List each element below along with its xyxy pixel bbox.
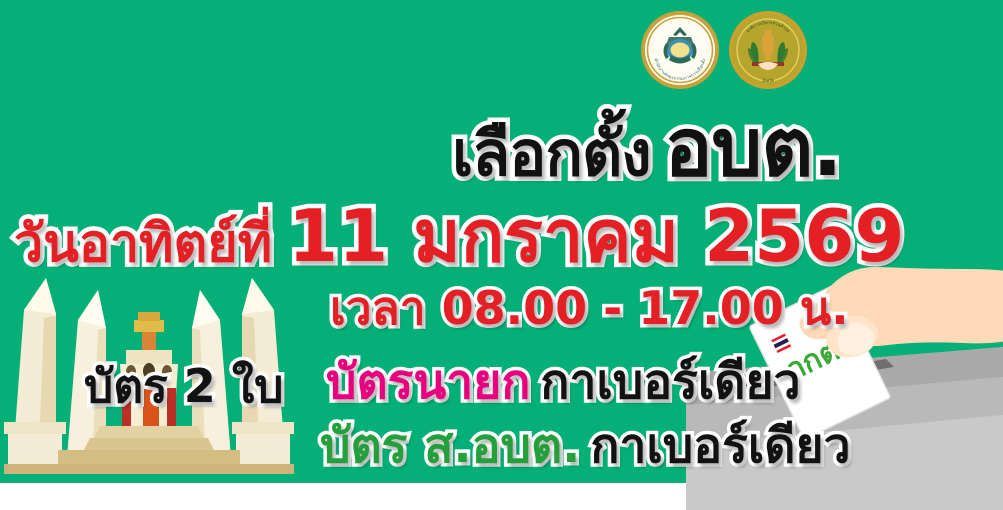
logo-group: สำนักงานคณะกรรมการการเลือกตั้ง สำนักงานค… xyxy=(640,6,820,92)
svg-text:จังหวัด: จังหวัด xyxy=(762,77,775,83)
election-poster: สำนักงานคณะกรรมการการเลือกตั้ง สำนักงานค… xyxy=(0,0,1003,510)
council-ballot-line: บัตร ส.อบต.กาเบอร์เดียว xyxy=(320,408,851,484)
ect-seal-icon: สำนักงานคณะกรรมการการเลือกตั้ง xyxy=(640,10,720,90)
council-ballot-title: บัตร ส.อบต. xyxy=(320,418,580,474)
time-line: เวลา 08.00 - 17.00 น. xyxy=(330,272,849,345)
council-ballot-instruction: กาเบอร์เดียว xyxy=(590,418,850,474)
mayor-ballot-title: บัตรนายก xyxy=(326,354,530,410)
ballot-count-label: บัตร 2 ใบ xyxy=(84,350,283,423)
date-value: 11 มกราคม 2569 xyxy=(288,194,905,278)
mayor-ballot-instruction: กาเบอร์เดียว xyxy=(540,354,800,410)
local-administration-seal-icon: องค์การบริหารส่วนตำบล จังหวัด xyxy=(728,10,808,90)
local-administration-seal-label: กรมส่งเสริมการปกครองท้องถิ่น xyxy=(640,6,641,7)
date-prefix: วันอาทิตย์ที่ xyxy=(14,214,272,274)
ect-seal-label: สำนักงานคณะกรรมการการเลือกตั้ง xyxy=(640,6,641,7)
